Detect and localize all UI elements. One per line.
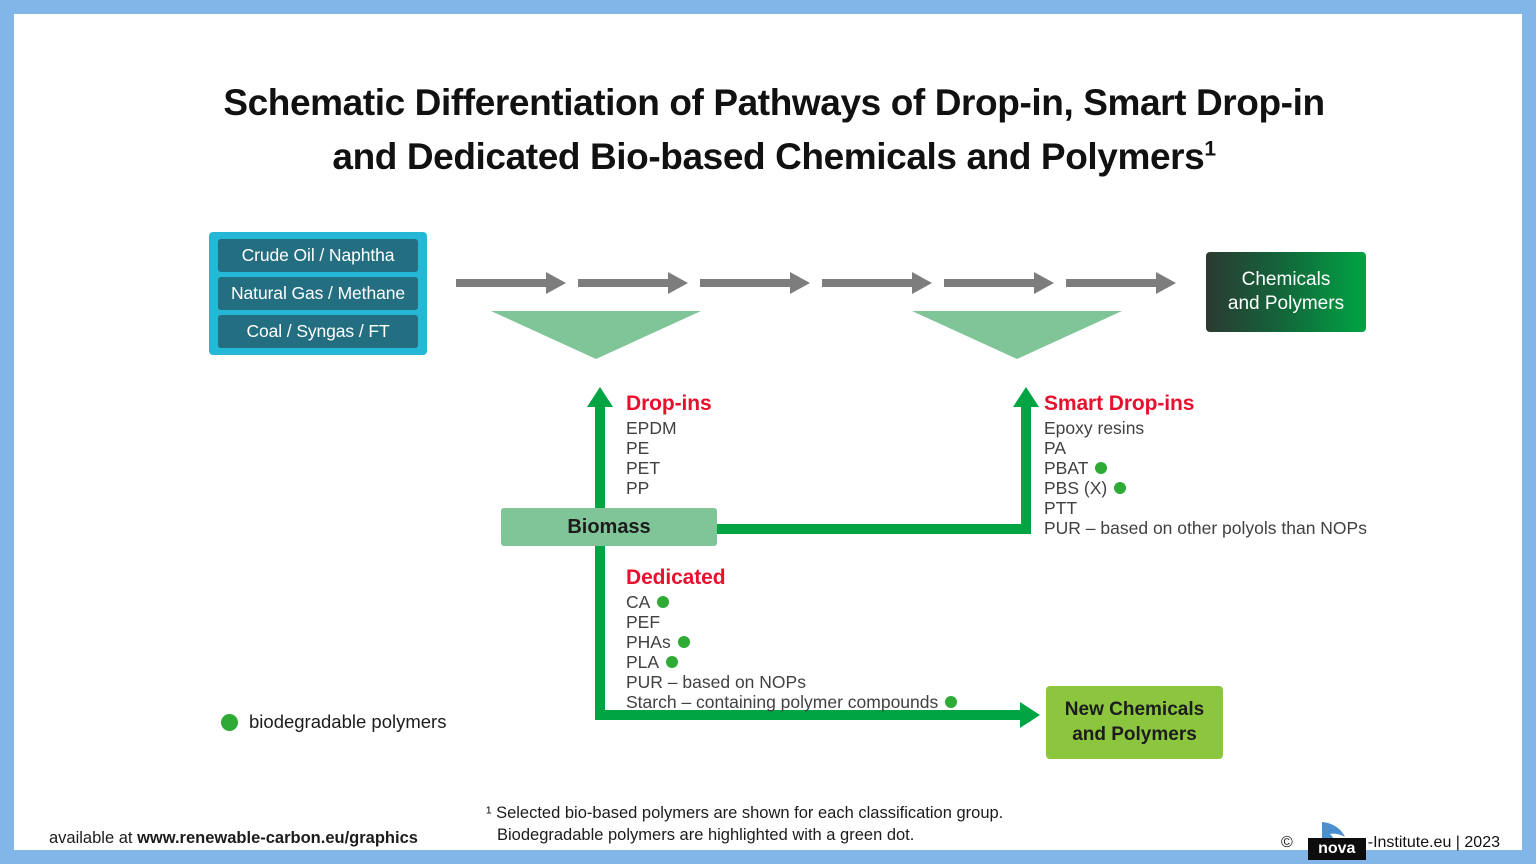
polymer-label: PHAs [626, 632, 671, 652]
list-item: PBS (X) [1044, 478, 1367, 498]
list-item: PUR – based on other polyols than NOPs [1044, 518, 1367, 538]
polymer-label: PLA [626, 652, 659, 672]
polymer-label: PE [626, 438, 649, 458]
process-arrow-1 [456, 272, 566, 294]
list-item: PTT [1044, 498, 1367, 518]
arrow-head [790, 272, 810, 294]
footnote-line-1: ¹ Selected bio-based polymers are shown … [486, 802, 1003, 824]
process-arrow-4 [822, 272, 932, 294]
copyright: © nova -Institute.eu | 2023 [1281, 826, 1500, 860]
process-arrow-2 [578, 272, 688, 294]
biomass-entry-triangle-left [491, 311, 701, 359]
polymer-label: PTT [1044, 498, 1077, 518]
polymer-label: EPDM [626, 418, 677, 438]
polymer-label: Epoxy resins [1044, 418, 1144, 438]
footnote: ¹ Selected bio-based polymers are shown … [486, 802, 1003, 846]
biodegradable-dot-icon [657, 596, 669, 608]
arrow-head [912, 272, 932, 294]
arrow-shaft [944, 279, 1034, 287]
feedstock-coal: Coal / Syngas / FT [218, 315, 418, 348]
list-item: PA [1044, 438, 1367, 458]
copyright-symbol: © [1281, 834, 1293, 852]
biodegradable-dot-icon [945, 696, 957, 708]
process-arrow-6 [1066, 272, 1176, 294]
list-item: PE [626, 438, 712, 458]
category-dedicated: Dedicated CA PEF PHAs PLA PUR – based on… [626, 566, 957, 712]
biodegradable-dot-icon [678, 636, 690, 648]
list-item: EPDM [626, 418, 712, 438]
biomass-entry-triangle-right [912, 311, 1122, 359]
list-item: PET [626, 458, 712, 478]
list-item: PP [626, 478, 712, 498]
chemicals-and-polymers-box: Chemicals and Polymers [1206, 252, 1366, 332]
poster-page: Schematic Differentiation of Pathways of… [14, 14, 1522, 850]
category-title-drop-ins: Drop-ins [626, 392, 712, 416]
category-smart-drop-ins: Smart Drop-ins Epoxy resins PA PBAT PBS … [1044, 392, 1367, 538]
footnote-line-2: Biodegradable polymers are highlighted w… [486, 824, 1003, 846]
biodegradable-dot-icon [1114, 482, 1126, 494]
connector-dedicated-vertical [595, 544, 605, 720]
polymer-label: Starch – containing polymer compounds [626, 692, 938, 712]
available-url[interactable]: www.renewable-carbon.eu/graphics [137, 829, 418, 847]
arrow-shaft [456, 279, 546, 287]
list-item: PHAs [626, 632, 957, 652]
biodegradable-dot-icon [666, 656, 678, 668]
category-title-smart-drop-ins: Smart Drop-ins [1044, 392, 1367, 416]
list-item: PUR – based on NOPs [626, 672, 957, 692]
arrow-head [1156, 272, 1176, 294]
new-chemicals-line-2: and Polymers [1072, 724, 1197, 745]
arrow-shaft [822, 279, 912, 287]
polymer-label: PBAT [1044, 458, 1088, 478]
arrow-shaft [1066, 279, 1156, 287]
fossil-feedstock-panel: Crude Oil / Naphtha Natural Gas / Methan… [209, 232, 427, 355]
category-title-dedicated: Dedicated [626, 566, 957, 590]
polymer-label: PA [1044, 438, 1066, 458]
new-chemicals-and-polymers-box: New Chemicals and Polymers [1046, 686, 1223, 759]
list-item: PEF [626, 612, 957, 632]
chemicals-line-2: and Polymers [1228, 293, 1344, 314]
list-item: PBAT [1044, 458, 1367, 478]
connector-dedicated-arrowhead [1020, 702, 1040, 728]
polymer-label: PP [626, 478, 649, 498]
new-chemicals-line-1: New Chemicals [1065, 699, 1204, 720]
category-drop-ins: Drop-ins EPDM PE PET PP [626, 392, 712, 498]
list-item: PLA [626, 652, 957, 672]
polymer-label: PEF [626, 612, 660, 632]
legend-label: biodegradable polymers [249, 711, 446, 733]
connector-smart-arrowhead [1013, 387, 1039, 407]
biodegradable-dot-icon [221, 714, 238, 731]
list-item: Epoxy resins [1044, 418, 1367, 438]
chemicals-line-1: Chemicals [1242, 269, 1331, 290]
arrow-head [546, 272, 566, 294]
available-at: available at www.renewable-carbon.eu/gra… [49, 829, 418, 848]
title-superscript: 1 [1204, 137, 1215, 160]
connector-smart-vertical [1021, 406, 1031, 534]
list-item: Starch – containing polymer compounds [626, 692, 957, 712]
polymer-label: CA [626, 592, 650, 612]
biomass-box: Biomass [501, 508, 717, 546]
nova-wordmark: nova [1308, 838, 1366, 860]
feedstock-crude-oil: Crude Oil / Naphtha [218, 239, 418, 272]
polymer-label: PBS (X) [1044, 478, 1107, 498]
arrow-head [1034, 272, 1054, 294]
legend: biodegradable polymers [221, 711, 446, 733]
arrow-head [668, 272, 688, 294]
copyright-suffix: -Institute.eu | 2023 [1368, 834, 1500, 852]
page-title: Schematic Differentiation of Pathways of… [114, 76, 1434, 183]
connector-dropins-arrowhead [587, 387, 613, 407]
available-prefix: available at [49, 829, 137, 847]
title-line-1: Schematic Differentiation of Pathways of… [223, 82, 1324, 123]
connector-smart-horizontal [717, 524, 1031, 534]
connector-dropins-vertical [595, 406, 605, 511]
arrow-shaft [578, 279, 668, 287]
polymer-label: PUR – based on NOPs [626, 672, 806, 692]
arrow-shaft [700, 279, 790, 287]
feedstock-natural-gas: Natural Gas / Methane [218, 277, 418, 310]
nova-institute-logo: nova [1300, 826, 1366, 860]
process-arrow-5 [944, 272, 1054, 294]
biodegradable-dot-icon [1095, 462, 1107, 474]
polymer-label: PUR – based on other polyols than NOPs [1044, 518, 1367, 538]
process-arrow-3 [700, 272, 810, 294]
polymer-label: PET [626, 458, 660, 478]
title-line-2: and Dedicated Bio-based Chemicals and Po… [332, 136, 1204, 177]
list-item: CA [626, 592, 957, 612]
